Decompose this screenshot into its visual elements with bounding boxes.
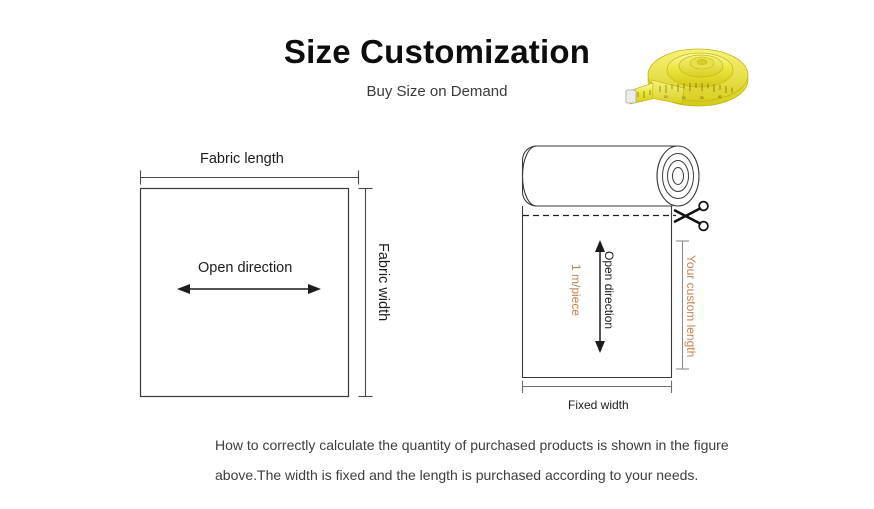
svg-text:30: 30 xyxy=(700,96,704,100)
svg-text:20: 20 xyxy=(682,96,686,100)
open-direction-arrow-horizontal xyxy=(177,284,321,294)
svg-text:40: 40 xyxy=(718,95,722,99)
open-direction-label-right: Open direction xyxy=(600,251,618,329)
svg-text:10: 10 xyxy=(664,95,668,99)
custom-length-label: Your custom length xyxy=(682,255,700,357)
measuring-tape-icon: 10 20 30 40 xyxy=(620,28,760,120)
caption-line-1: How to correctly calculate the quantity … xyxy=(215,430,745,460)
caption-block: How to correctly calculate the quantity … xyxy=(215,430,745,490)
fabric-panel-shape xyxy=(523,206,672,378)
fixed-width-label: Fixed width xyxy=(568,396,629,414)
fabric-length-label: Fabric length xyxy=(200,150,284,168)
open-direction-label-left: Open direction xyxy=(198,259,292,277)
piece-length-label: 1 m/piece xyxy=(567,264,585,316)
fixed-width-dimension-line xyxy=(523,381,672,394)
scissors-icon xyxy=(675,202,708,231)
fabric-width-label: Fabric width xyxy=(374,243,392,321)
size-customization-infographic: Size Customization Buy Size on Demand xyxy=(0,0,874,509)
fabric-piece-shape xyxy=(141,189,349,397)
caption-line-2: above.The width is fixed and the length … xyxy=(215,460,745,490)
fabric-roll-shape xyxy=(523,146,700,206)
fabric-length-dimension-line xyxy=(141,171,359,185)
fabric-width-dimension-line xyxy=(359,189,373,397)
